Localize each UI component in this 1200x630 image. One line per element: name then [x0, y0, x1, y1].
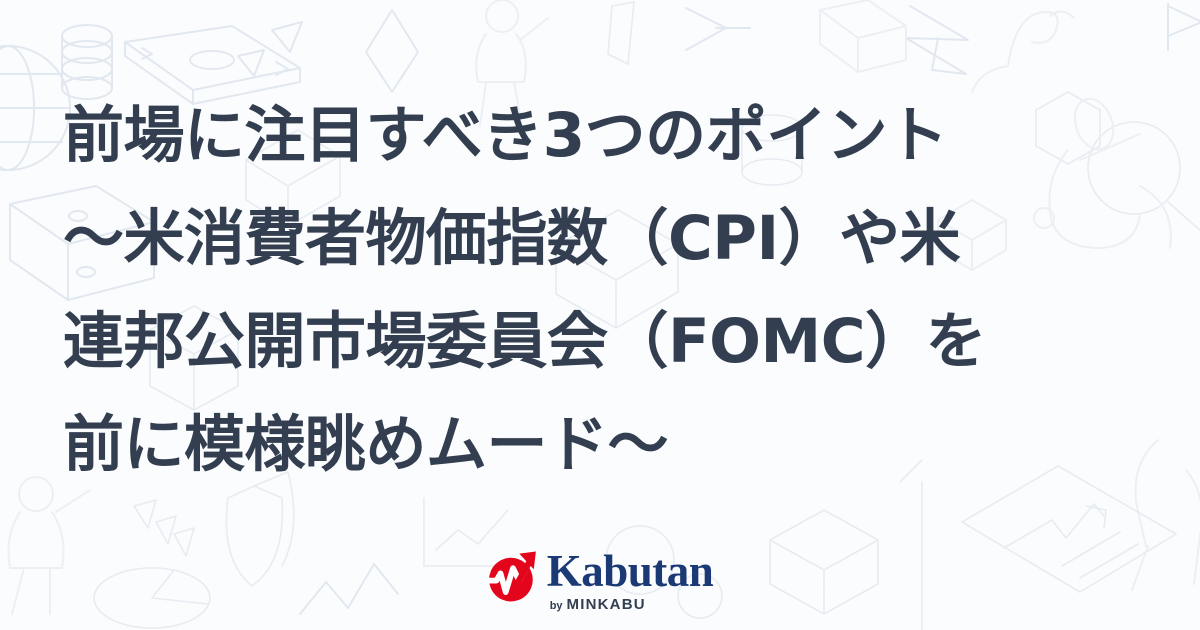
headline-line-3: 連邦公開市場委員会（FOMC）を: [63, 290, 1138, 393]
cube-icon: [366, 10, 418, 92]
brand-logo-lockup: Kabutan by MINKABU: [0, 549, 1200, 613]
calculator-icon: [820, 0, 906, 72]
arrow-icon: [906, 6, 968, 74]
brand-tagline: by MINKABU: [550, 596, 646, 613]
brand-tagline-by: by: [550, 600, 563, 612]
headline-line-1: 前場に注目すべき3つのポイント: [63, 84, 1138, 187]
arrow-icon: [686, 8, 750, 50]
headline-line-4: 前に模様眺めムード～: [63, 393, 1138, 496]
headline-line-2: ～米消費者物価指数（CPI）や米: [63, 187, 1138, 290]
brand-tagline-minkabu: MINKABU: [567, 596, 646, 613]
squiggle-icon: [972, 11, 1074, 92]
brand-wordmark: Kabutan: [547, 549, 714, 594]
globe-icon: [0, 46, 70, 170]
triangle-cursor-icon: [134, 500, 194, 556]
upward-arrow-chart-icon: [487, 550, 539, 603]
share-card: 前場に注目すべき3つのポイント ～米消費者物価指数（CPI）や米 連邦公開市場委…: [0, 0, 1200, 630]
triangle-cursor-icon: [238, 22, 302, 76]
flag-icon: [1168, 4, 1200, 50]
page-title: 前場に注目すべき3つのポイント ～米消費者物価指数（CPI）や米 連邦公開市場委…: [63, 84, 1138, 496]
pencil-icon: [608, 2, 634, 64]
